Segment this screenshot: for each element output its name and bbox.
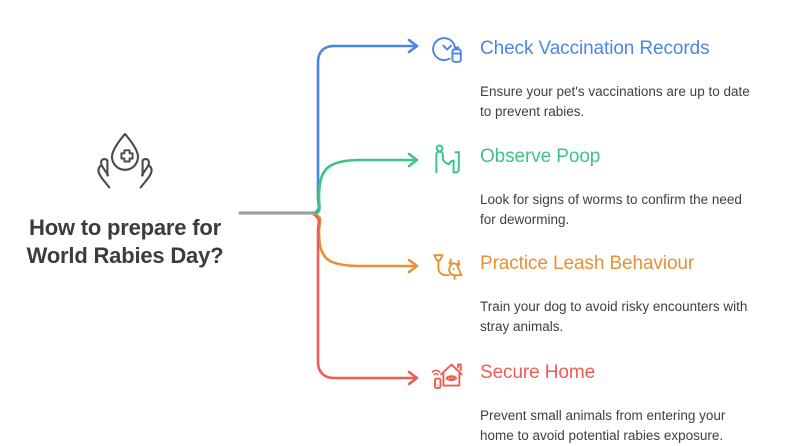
connector-1 bbox=[314, 160, 414, 214]
branch-item: Practice Leash Behaviour Train your dog … bbox=[430, 253, 760, 338]
infographic-canvas: How to prepare for World Rabies Day? bbox=[0, 0, 792, 446]
branch-title: Secure Home bbox=[480, 362, 595, 384]
branch-description: Prevent small animals from entering your… bbox=[480, 406, 752, 446]
branch-item: Secure Home Prevent small animals from e… bbox=[430, 362, 760, 446]
house-eye-security-icon bbox=[430, 362, 466, 399]
branch-description: Look for signs of worms to confirm the n… bbox=[480, 190, 752, 231]
branch-item: Check Vaccination Records Ensure your pe… bbox=[430, 38, 760, 123]
arrow-0 bbox=[409, 40, 417, 52]
person-cleaning-after-dog-icon bbox=[430, 146, 466, 183]
branch-header: Check Vaccination Records bbox=[430, 38, 760, 75]
hands-holding-droplet-with-cross-icon bbox=[81, 125, 169, 200]
connector-0 bbox=[316, 46, 414, 212]
page-title: How to prepare for World Rabies Day? bbox=[10, 214, 240, 270]
branch-title: Practice Leash Behaviour bbox=[480, 253, 694, 275]
arrow-3 bbox=[409, 372, 417, 384]
branch-description: Train your dog to avoid risky encounters… bbox=[480, 297, 752, 338]
branch-header: Practice Leash Behaviour bbox=[430, 253, 760, 290]
central-topic: How to prepare for World Rabies Day? bbox=[10, 125, 240, 270]
connector-3 bbox=[316, 216, 414, 378]
clock-vaccine-vial-icon bbox=[430, 38, 466, 75]
branch-header: Observe Poop bbox=[430, 146, 760, 183]
branch-header: Secure Home bbox=[430, 362, 760, 399]
connector-2 bbox=[314, 215, 414, 266]
arrow-1 bbox=[409, 154, 417, 166]
branch-description: Ensure your pet's vaccinations are up to… bbox=[480, 82, 752, 123]
arrow-2 bbox=[409, 260, 417, 272]
branch-title: Observe Poop bbox=[480, 146, 600, 168]
branch-title: Check Vaccination Records bbox=[480, 38, 709, 60]
branch-item: Observe Poop Look for signs of worms to … bbox=[430, 146, 760, 231]
leash-dog-head-icon bbox=[430, 253, 466, 290]
